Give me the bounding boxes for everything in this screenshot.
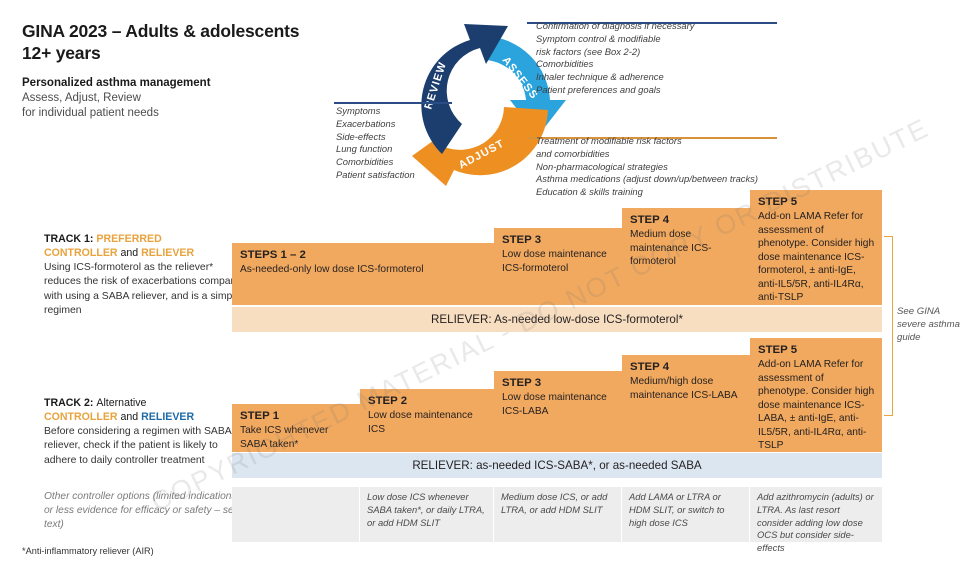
assess-item: Patient preferences and goals	[536, 84, 694, 97]
step-title: STEP 2	[368, 394, 487, 409]
page-title-line2: 12+ years	[22, 42, 342, 64]
step-title: STEP 4	[630, 360, 743, 375]
step-title: STEPS 1 – 2	[240, 248, 487, 263]
track2-step-box-2[interactable]: STEP 2 Low dose maintenance ICS	[360, 389, 494, 452]
track-2-heading: TRACK 2: Alternative CONTROLLER and RELI…	[44, 396, 249, 424]
track-1-reliever: RELIEVER	[141, 247, 194, 259]
page-subtitle: Personalized asthma management	[22, 76, 342, 91]
adjust-item: Non-pharmacological strategies	[536, 161, 758, 174]
step-title: STEP 1	[240, 409, 353, 424]
track-1-description: Using ICS-formoterol as the reliever* re…	[44, 261, 249, 318]
step-title: STEP 3	[502, 233, 615, 248]
track-2-label-block: TRACK 2: Alternative CONTROLLER and RELI…	[44, 396, 249, 468]
see-gina-text: See GINA severe asthma guide	[897, 306, 960, 343]
track-1-and: and	[121, 247, 139, 259]
step-title: STEP 4	[630, 213, 743, 228]
review-item: Symptoms	[336, 105, 415, 118]
adjust-items-list: Treatment of modifiable risk factors and…	[536, 135, 758, 199]
other-option-cell-2: Low dose ICS whenever SABA taken*, or da…	[360, 487, 494, 542]
track-2-and: and	[121, 411, 139, 423]
step-body: Low dose maintenance ICS-formoterol	[502, 248, 615, 275]
track2-step-box-3[interactable]: STEP 3 Low dose maintenance ICS-LABA	[494, 371, 622, 452]
track-2-description: Before considering a regimen with SABA r…	[44, 425, 249, 468]
assess-item: Inhaler technique & adherence	[536, 71, 694, 84]
track2-step-box-4[interactable]: STEP 4 Medium/high dose maintenance ICS-…	[622, 355, 750, 452]
other-controller-options-label: Other controller options (limited indica…	[44, 490, 244, 532]
track2-reliever-bar: RELIEVER: as-needed ICS-SABA*, or as-nee…	[232, 453, 882, 478]
track1-reliever-text: RELIEVER: As-needed low-dose ICS-formote…	[431, 313, 683, 326]
step-body: Low dose maintenance ICS-LABA	[502, 391, 615, 418]
page-subline-1: Assess, Adjust, Review	[22, 91, 342, 106]
track-2-reliever: RELIEVER	[141, 411, 194, 423]
track1-reliever-bar: RELIEVER: As-needed low-dose ICS-formote…	[232, 307, 882, 332]
track2-step-box-1[interactable]: STEP 1 Take ICS whenever SABA taken*	[232, 404, 360, 452]
gina-2023-asthma-management-chart: GINA 2023 – Adults & adolescents 12+ yea…	[0, 0, 975, 568]
review-item: Patient satisfaction	[336, 169, 415, 182]
track1-step-box-1[interactable]: STEPS 1 – 2 As-needed-only low dose ICS-…	[232, 243, 494, 305]
review-item: Comorbidities	[336, 156, 415, 169]
step-body: As-needed-only low dose ICS-formoterol	[240, 263, 487, 277]
other-option-cell-3: Medium dose ICS, or add LTRA, or add HDM…	[494, 487, 622, 542]
step-body: Add-on LAMA Refer for assessment of phen…	[758, 358, 875, 453]
assess-item: Symptom control & modifiable	[536, 33, 694, 46]
other-option-cell-5: Add azithromycin (adults) or LTRA. As la…	[750, 487, 882, 542]
step-body: Medium dose maintenance ICS-formoterol	[630, 228, 743, 269]
other-option-cell-4: Add LAMA or LTRA or HDM SLIT, or switch …	[622, 487, 750, 542]
title-block: GINA 2023 – Adults & adolescents 12+ yea…	[22, 20, 342, 121]
step-body: Add-on LAMA Refer for assessment of phen…	[758, 210, 875, 305]
review-rule-divider	[334, 102, 452, 104]
step-title: STEP 5	[758, 195, 875, 210]
assess-items-list: Confirmation of diagnosis if necessary S…	[536, 20, 694, 97]
step-body: Take ICS whenever SABA taken*	[240, 424, 353, 451]
track-1-preferred: PREFERRED	[96, 233, 161, 245]
review-item: Side-effects	[336, 131, 415, 144]
track-2-alternative: Alternative	[96, 397, 146, 409]
assess-item: Confirmation of diagnosis if necessary	[536, 20, 694, 33]
see-gina-severe-asthma-guide: See GINA severe asthma guide	[897, 306, 967, 345]
step-body: Medium/high dose maintenance ICS-LABA	[630, 375, 743, 402]
severe-asthma-bracket	[884, 236, 893, 416]
review-item: Exacerbations	[336, 118, 415, 131]
track1-step-box-3[interactable]: STEP 3 Low dose maintenance ICS-formoter…	[494, 228, 622, 305]
adjust-item: Education & skills training	[536, 186, 758, 199]
track-2-controller: CONTROLLER	[44, 411, 118, 423]
step-title: STEP 3	[502, 376, 615, 391]
track1-step-box-4[interactable]: STEP 4 Medium dose maintenance ICS-formo…	[622, 208, 750, 305]
assess-item: Comorbidities	[536, 58, 694, 71]
track-1-heading: TRACK 1: PREFERRED CONTROLLER and RELIEV…	[44, 232, 249, 260]
other-options-text: Other controller options (limited indica…	[44, 491, 239, 530]
adjust-item: Asthma medications (adjust down/up/betwe…	[536, 173, 758, 186]
track-2-prefix: TRACK 2:	[44, 397, 93, 409]
assess-item: risk factors (see Box 2-2)	[536, 46, 694, 59]
adjust-item: and comorbidities	[536, 148, 758, 161]
review-item: Lung function	[336, 143, 415, 156]
step-title: STEP 5	[758, 343, 875, 358]
other-controller-options-row: Low dose ICS whenever SABA taken*, or da…	[232, 487, 882, 542]
review-items-list: Symptoms Exacerbations Side-effects Lung…	[336, 105, 415, 182]
other-option-cell-1	[232, 487, 360, 542]
adjust-item: Treatment of modifiable risk factors	[536, 135, 758, 148]
track1-step-box-5[interactable]: STEP 5 Add-on LAMA Refer for assessment …	[750, 190, 882, 305]
footnote: *Anti-inflammatory reliever (AIR)	[22, 546, 154, 556]
track-1-controller: CONTROLLER	[44, 247, 118, 259]
track-1-prefix: TRACK 1:	[44, 233, 93, 245]
track2-step-box-5[interactable]: STEP 5 Add-on LAMA Refer for assessment …	[750, 338, 882, 452]
page-subline-2: for individual patient needs	[22, 106, 342, 121]
track2-reliever-text: RELIEVER: as-needed ICS-SABA*, or as-nee…	[412, 459, 701, 472]
page-title: GINA 2023 – Adults & adolescents	[22, 20, 342, 42]
step-body: Low dose maintenance ICS	[368, 409, 487, 436]
track-1-label-block: TRACK 1: PREFERRED CONTROLLER and RELIEV…	[44, 232, 249, 318]
